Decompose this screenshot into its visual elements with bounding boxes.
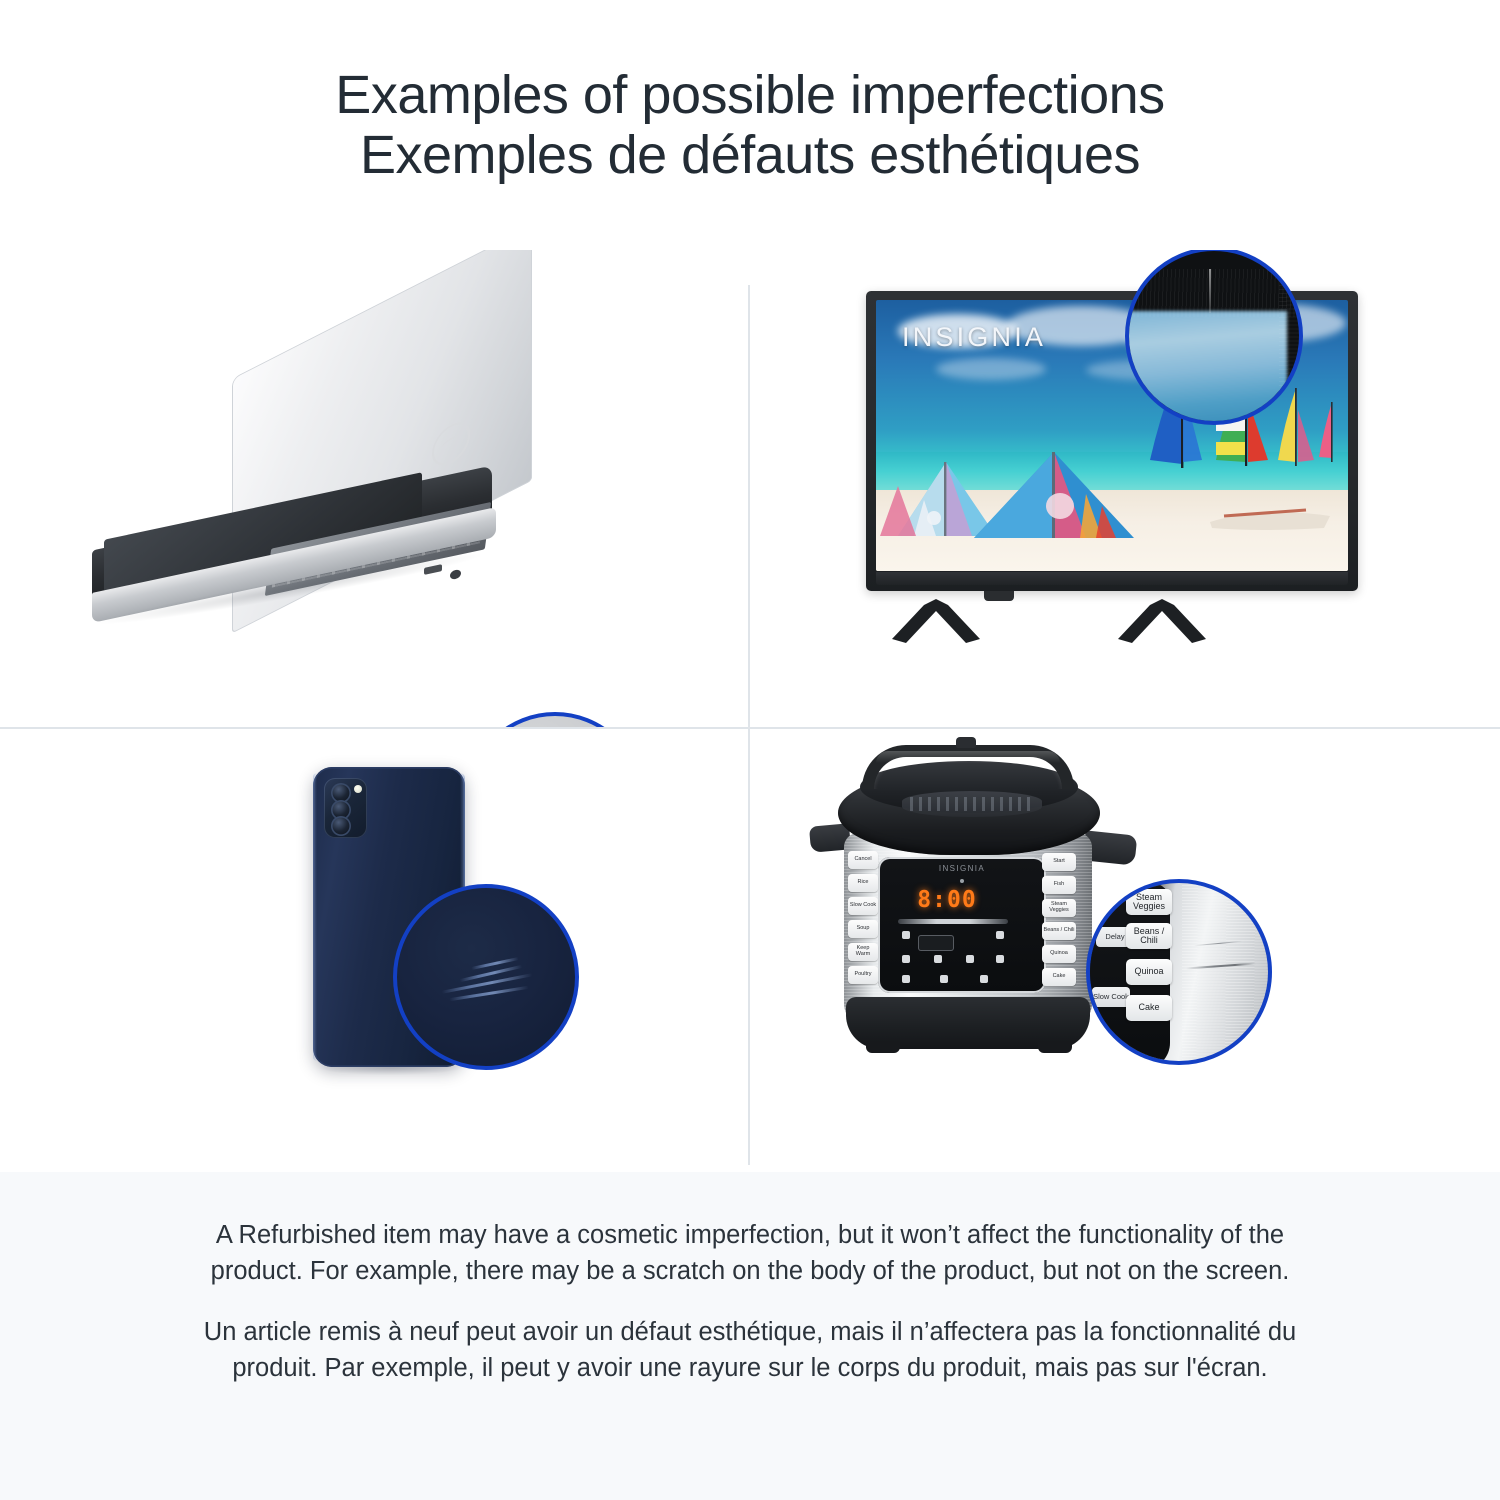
cooker-button[interactable]: Quinoa <box>1042 945 1076 963</box>
cooker-mini-key[interactable] <box>902 931 910 939</box>
cooker-left-button-column: Cancel Rice Slow Cook Soup Keep Warm Pou… <box>848 851 878 1003</box>
page-title-french: Exemples de défauts esthétiques <box>360 125 1140 185</box>
page-title-english: Examples of possible imperfections <box>335 65 1164 125</box>
example-pressure-cooker: INSIGNIA 8:00 <box>750 729 1500 1172</box>
camera-lens-icon <box>331 816 351 836</box>
cooker-magnified-button[interactable]: Beans / Chili <box>1126 923 1172 949</box>
cooker-mini-key[interactable] <box>902 975 910 983</box>
examples-grid: INSIGNIA <box>0 250 1500 1172</box>
cooker-right-button-column: Start Fish Steam Veggies Beans / Chili Q… <box>1042 853 1076 1003</box>
footer-paragraph-french: Un article remis à neuf peut avoir un dé… <box>180 1315 1320 1386</box>
cooker-mini-key-cluster[interactable] <box>900 929 1008 987</box>
example-laptop <box>0 250 748 727</box>
cooker-indicator-led <box>960 879 964 883</box>
cooker-control-panel: INSIGNIA 8:00 <box>878 857 1046 993</box>
pressure-cooker-illustration: INSIGNIA 8:00 <box>750 729 1500 1172</box>
cooker-mini-key[interactable] <box>902 955 910 963</box>
tv-bottom-bezel <box>876 572 1348 585</box>
cooker-handle-highlight <box>876 751 1060 763</box>
tv-foot-right <box>1114 599 1210 643</box>
cooker-mini-key[interactable] <box>934 955 942 963</box>
tv-ir-nub <box>984 591 1014 601</box>
cooker-foot-right <box>1038 1041 1072 1053</box>
camera-flash-icon <box>354 785 362 793</box>
cooker-button[interactable]: Poultry <box>848 966 878 984</box>
cloud-shape <box>936 358 1046 380</box>
cooker-button[interactable]: Keep Warm <box>848 943 878 961</box>
example-smartphone <box>0 729 748 1172</box>
page-header: Examples of possible imperfections Exemp… <box>0 0 1500 250</box>
beach-tent-far-left <box>878 484 920 542</box>
cooker-lid-vent-grille <box>902 791 1042 817</box>
cooker-button[interactable]: Beans / Chili <box>1042 922 1076 940</box>
smartphone-illustration <box>0 729 748 1172</box>
beached-hull <box>1206 496 1336 538</box>
cooker-button[interactable]: Cancel <box>848 851 878 869</box>
example-television: INSIGNIA <box>750 250 1500 727</box>
cooker-magnified-button[interactable]: Cake <box>1126 995 1172 1021</box>
laptop-illustration <box>0 250 748 727</box>
phone-scratch-mark <box>442 973 533 993</box>
tv-magnified-screen <box>1125 311 1287 425</box>
cooker-mini-key[interactable] <box>966 955 974 963</box>
camera-module <box>324 778 367 838</box>
sailboat-pink <box>1316 400 1348 472</box>
tv-foot-left <box>888 599 984 643</box>
laptop-audio-port <box>450 569 461 580</box>
cooker-foot-left <box>866 1041 900 1053</box>
cooker-button[interactable]: Cake <box>1042 968 1076 986</box>
cooker-magnified-button[interactable]: Slow Cook <box>1092 987 1130 1007</box>
cooker-mini-key[interactable] <box>980 975 988 983</box>
tv-magnified-bezel-top <box>1125 269 1303 317</box>
cooker-button[interactable]: Fish <box>1042 876 1076 894</box>
cooker-body-magnifier: Delay Slow Cook Steam Veggies Beans / Ch… <box>1086 879 1272 1065</box>
cooker-pressure-slider[interactable] <box>898 919 1008 924</box>
cooker-brand-label: INSIGNIA <box>878 864 1046 873</box>
cooker-mini-key[interactable] <box>996 931 1004 939</box>
television-illustration: INSIGNIA <box>750 250 1500 727</box>
footer-paragraph-english: A Refurbished item may have a cosmetic i… <box>180 1218 1320 1289</box>
cooker-mini-key[interactable] <box>996 955 1004 963</box>
cooker-button[interactable]: Steam Veggies <box>1042 899 1076 917</box>
cooker-button[interactable]: Start <box>1042 853 1076 871</box>
tv-bezel-scratch-mark <box>1209 269 1211 313</box>
cooker-magnified-stainless <box>1182 883 1272 1065</box>
cooker-pressure-valve <box>956 737 976 748</box>
cooker-magnified-button[interactable]: Steam Veggies <box>1126 889 1172 915</box>
cooker-led-display: 8:00 <box>908 887 986 913</box>
beach-tent-center <box>968 450 1140 546</box>
cooker-button[interactable]: Rice <box>848 874 878 892</box>
tv-screen-brand: INSIGNIA <box>902 322 1046 353</box>
cooker-mini-key[interactable] <box>940 975 948 983</box>
laptop-scratch-magnifier <box>466 712 644 727</box>
tv-bezel-magnifier <box>1125 250 1303 425</box>
footer-description: A Refurbished item may have a cosmetic i… <box>0 1172 1500 1500</box>
cooker-button[interactable]: Slow Cook <box>848 897 878 915</box>
refurbished-imperfections-infographic: Examples of possible imperfections Exemp… <box>0 0 1500 1500</box>
cooker-button[interactable]: Soup <box>848 920 878 938</box>
phone-scratch-magnifier <box>393 884 579 1070</box>
cooker-magnified-button[interactable]: Quinoa <box>1126 959 1172 985</box>
